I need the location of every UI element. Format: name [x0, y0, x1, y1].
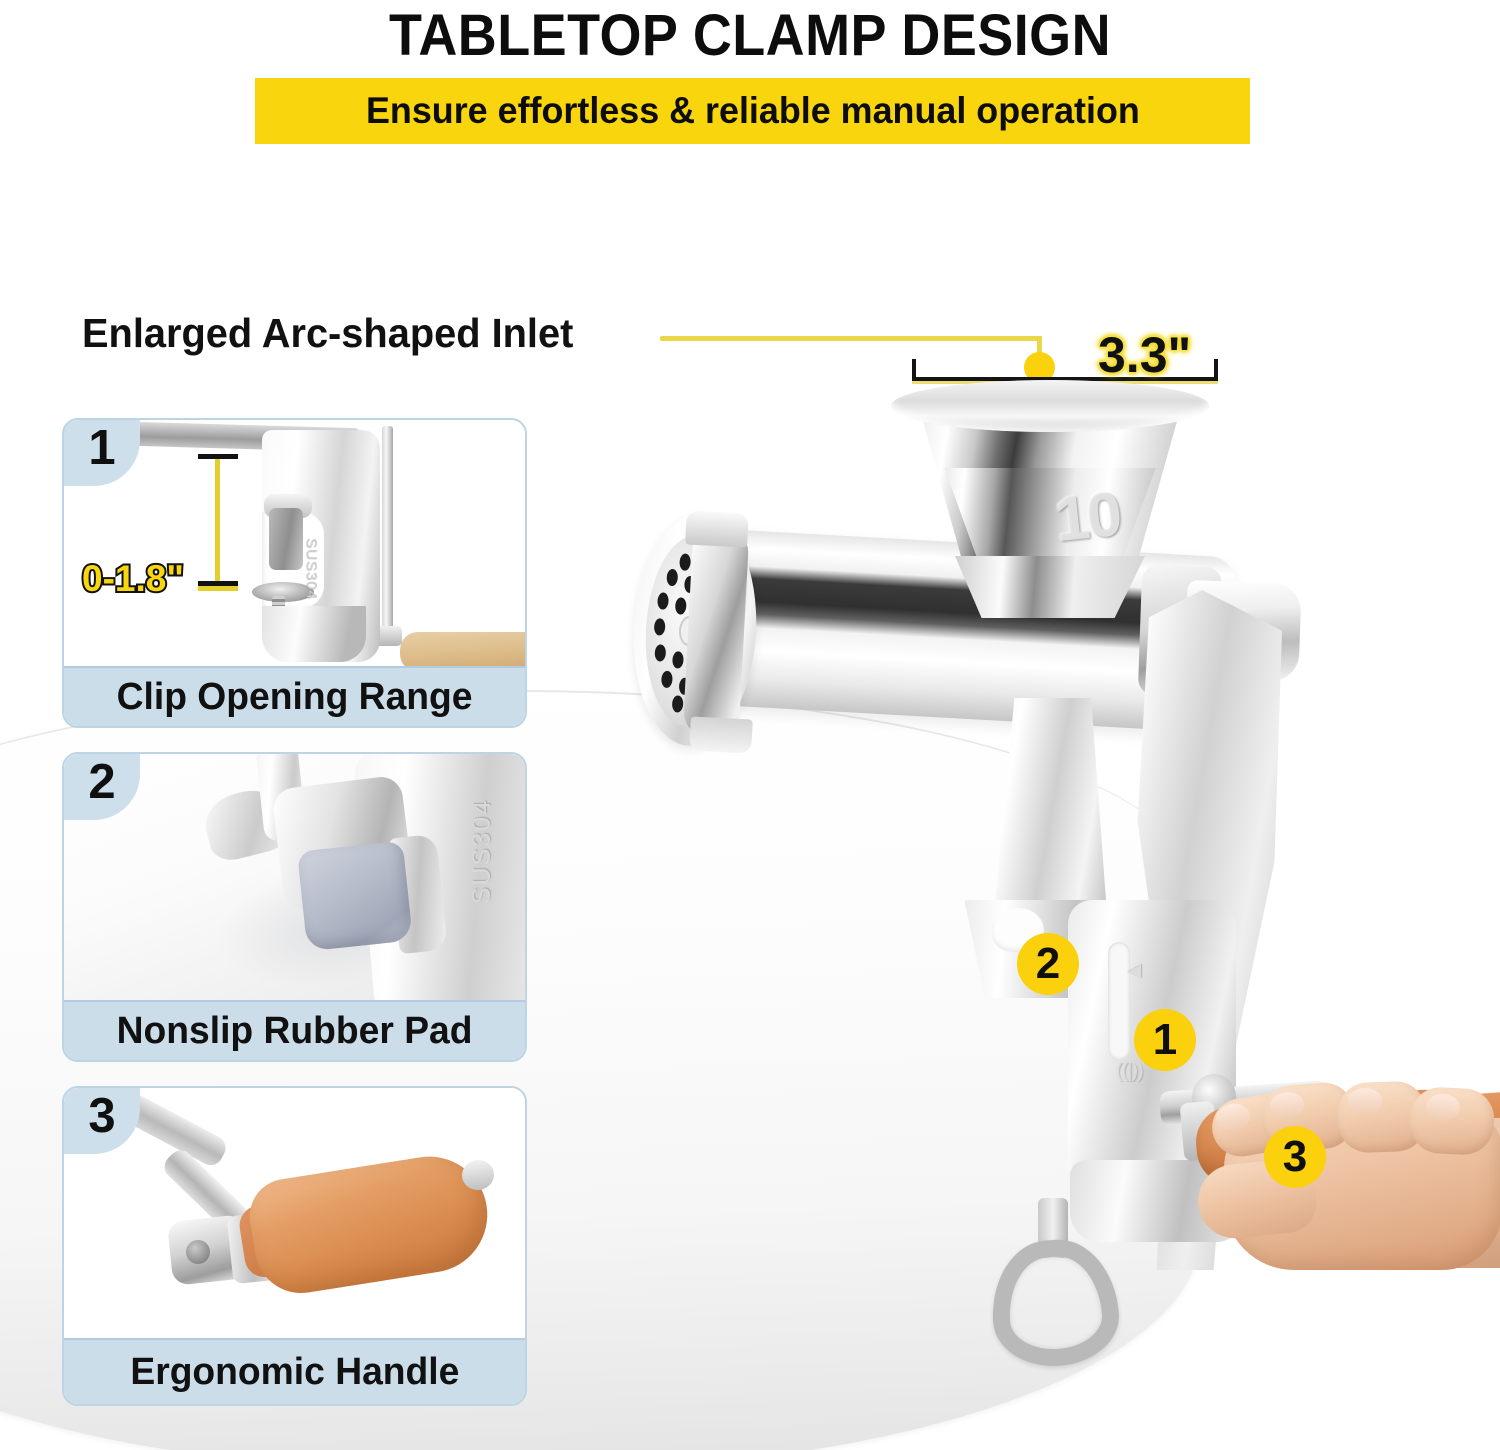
hand-gripping-handle — [1188, 1070, 1500, 1310]
clamp-arrow-stamp-icon: ▲ — [1120, 960, 1148, 984]
feature-card-clip-opening-range[interactable]: SUS304 0-1.8" 1 Clip Opening Range — [62, 418, 527, 728]
feature-card-ergonomic-handle[interactable]: 3 Ergonomic Handle — [62, 1086, 527, 1406]
ergonomic-wooden-grip — [244, 1148, 495, 1299]
crank-bolt — [186, 1240, 210, 1264]
clip-dimension-line — [215, 454, 220, 586]
card-number-2: 2 — [88, 758, 115, 806]
locking-ring — [682, 525, 749, 740]
locking-ring-tab-bottom — [689, 716, 753, 753]
card1-material-stamp: SUS304 — [303, 538, 320, 600]
page-title: TABLETOP CLAMP DESIGN — [53, 2, 1448, 69]
hopper-inlet — [891, 380, 1209, 432]
card2-material-stamp: SUS304 — [468, 799, 497, 904]
card-number-1: 1 — [88, 424, 115, 472]
product-badge-3: 3 — [1264, 1126, 1326, 1188]
clamp-wave-stamp-icon: ((|)) — [1116, 1060, 1143, 1083]
card-label-bar-1: Clip Opening Range — [64, 666, 525, 726]
grinder-support-column — [988, 698, 1108, 928]
hopper-size-marking: 10 — [1051, 479, 1123, 556]
fingernail-ring — [1348, 1088, 1382, 1114]
clamp-pad — [269, 508, 303, 570]
wooden-handle-thumbnail — [400, 632, 525, 668]
card-label-bar-2: Nonslip Rubber Pad — [64, 1000, 525, 1060]
card-label-text-2: Nonslip Rubber Pad — [117, 1010, 473, 1053]
hopper-skirt — [955, 556, 1145, 618]
card-label-bar-3: Ergonomic Handle — [64, 1338, 525, 1404]
clip-opening-dimension-value: 0-1.8" — [82, 558, 184, 600]
feature-card-nonslip-rubber-pad[interactable]: SUS304 2 Nonslip Rubber Pad — [62, 752, 527, 1062]
page-subtitle: Ensure effortless & reliable manual oper… — [366, 90, 1140, 132]
card-label-text-1: Clip Opening Range — [117, 676, 473, 719]
nonslip-rubber-pad — [297, 841, 413, 952]
locking-ring-tab-top — [685, 510, 749, 547]
clamp-rod — [382, 426, 393, 644]
product-badge-1: 1 — [1134, 1009, 1196, 1071]
subtitle-banner: Ensure effortless & reliable manual oper… — [255, 78, 1250, 144]
leader-line-horizontal — [660, 336, 1042, 341]
card-label-text-3: Ergonomic Handle — [130, 1351, 459, 1394]
card-number-3: 3 — [88, 1092, 115, 1140]
product-badge-2: 2 — [1017, 933, 1079, 995]
meat-grinder-product: 10 ▲ ((|)) — [600, 360, 1320, 1120]
infographic-root: TABLETOP CLAMP DESIGN Ensure effortless … — [0, 0, 1500, 1450]
inlet-callout-label: Enlarged Arc-shaped Inlet — [82, 310, 573, 357]
